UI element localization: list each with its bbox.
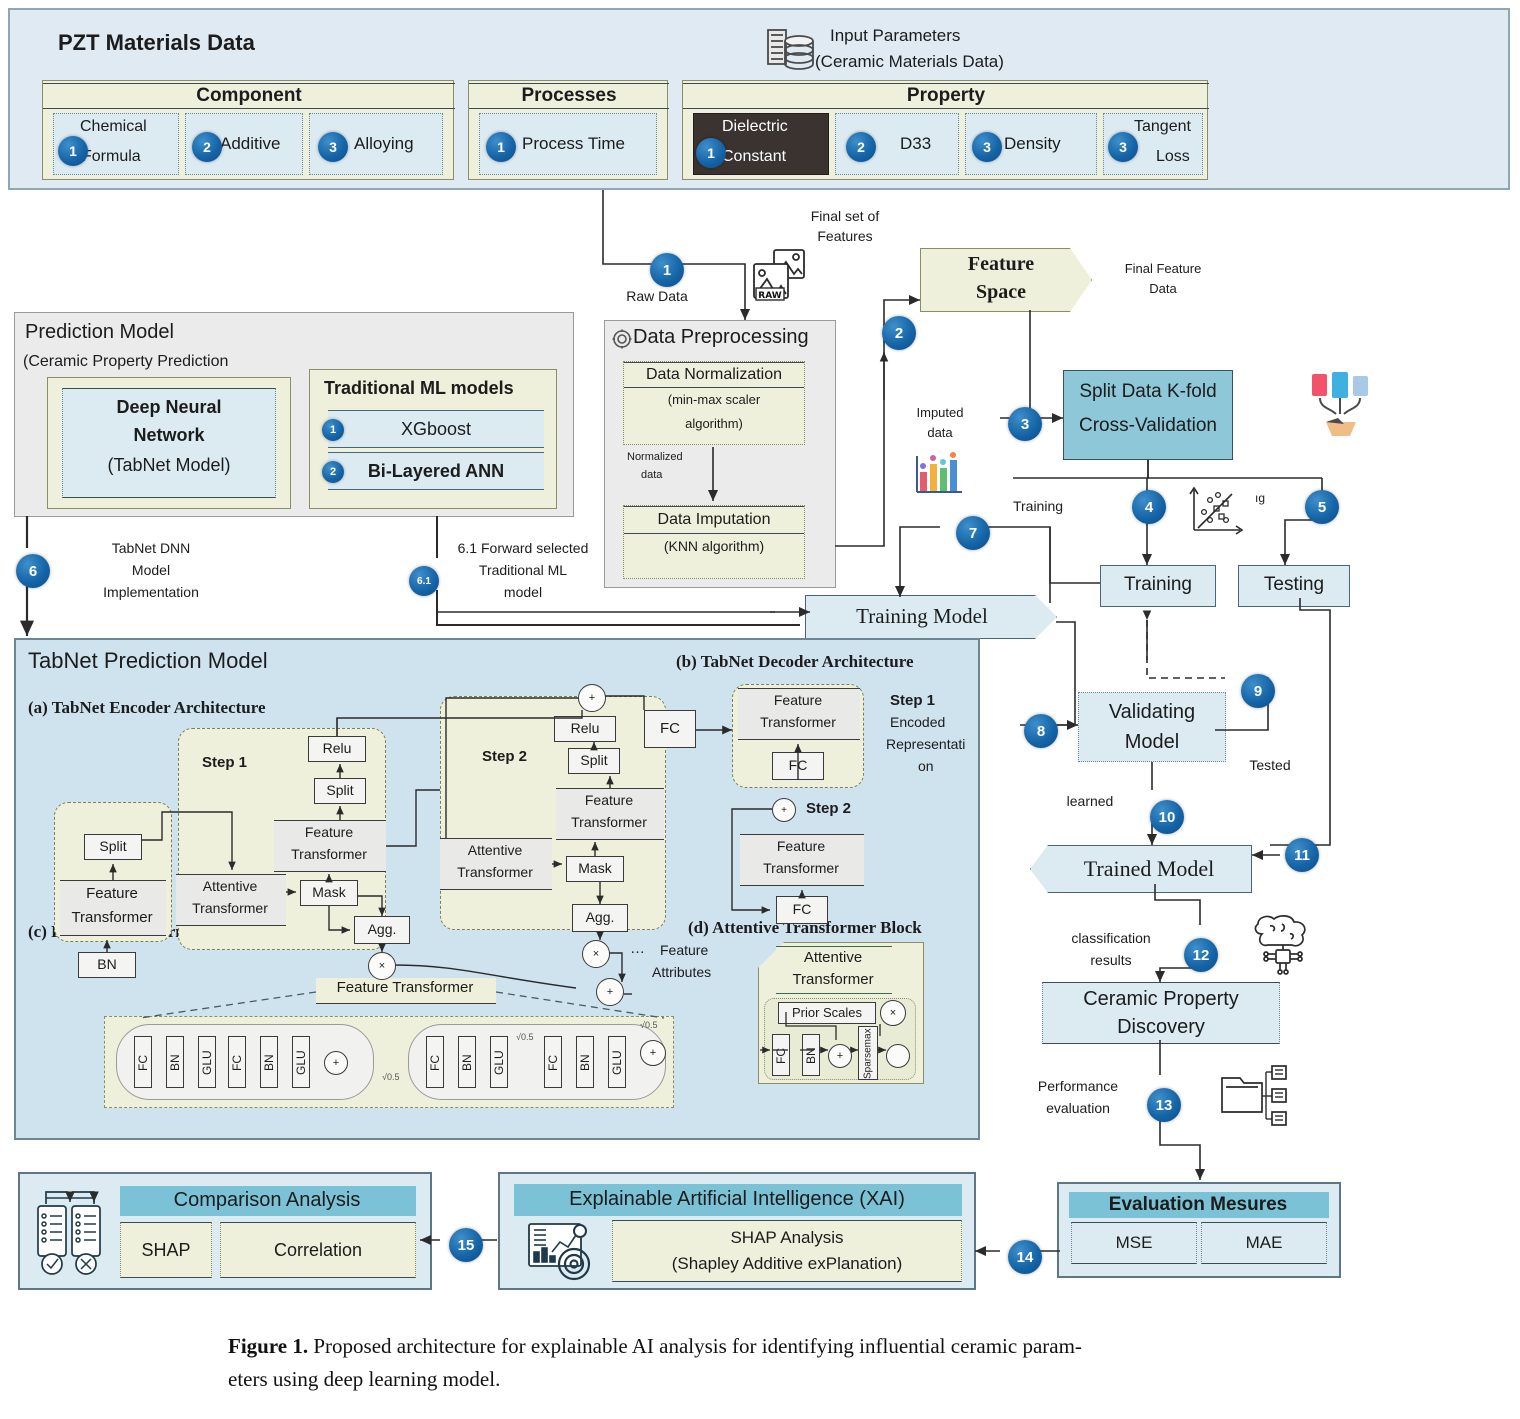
step2-plus-glyph: + [589,692,595,704]
step-badge-14: 14 [1008,1240,1042,1274]
validating-model-line1: Validating [1079,701,1225,724]
caption-bold: Figure 1. [228,1334,308,1358]
evaluation-mse-item[interactable]: MSE [1071,1222,1197,1264]
feature-space-box: Feature Space [920,248,1092,312]
final-feature-data-line2: Data [1108,282,1218,297]
step-badge-1: 1 [650,253,684,287]
pzt-panel-title: PZT Materials Data [58,30,255,56]
step-badge-6: 6 [16,554,50,588]
d33-label: D33 [900,134,931,154]
step2-plus-node: + [578,684,606,712]
chemical-formula-line1: Chemical [80,118,147,136]
traditional-ml-models-box: Traditional ML models XGboost 1 Bi-Layer… [309,369,557,509]
comparison-correlation-item[interactable]: Correlation [220,1222,416,1278]
split-data-line2: Cross-Validation [1064,415,1232,437]
shap-analysis-box: SHAP Analysis (Shapley Additive exPlanat… [612,1220,962,1282]
folder-network-icon [1218,1062,1290,1130]
forward-selected-line3: model [438,584,608,600]
caption-line2: eters using deep learning model. [228,1367,500,1391]
trained-model-box: Trained Model [1030,845,1252,893]
evaluation-mse-label: MSE [1072,1233,1196,1253]
analytics-dashboard-icon [526,1220,602,1284]
step-badge-13: 13 [1147,1088,1181,1122]
testing-box: Testing [1238,565,1350,607]
at-out-node [886,1044,910,1068]
step-badge-3: 3 [1008,407,1042,441]
evaluation-title: Evaluation Mesures [1069,1194,1327,1216]
xai-title-bar: Explainable Artificial Intelligence (XAI… [514,1184,962,1216]
data-preprocessing-panel: Data Preprocessing Data Normalization (m… [604,320,836,588]
additive-item[interactable]: Additive 2 [185,113,303,175]
imputed-data-line2: data [900,426,980,441]
dielectric-constant-item[interactable]: Dielectric Constant 1 [693,113,829,175]
bar-chart-icon [912,450,968,498]
svg-text:RAW: RAW [758,291,781,301]
additive-label: Additive [220,134,280,154]
step-badge-4: 4 [1132,490,1166,524]
final-feature-data-line1: Final Feature [1108,262,1218,277]
step-badge-8: 8 [1024,714,1058,748]
step-badge-15: 15 [449,1228,483,1262]
property-group: Property Dielectric Constant 1 D33 2 Den… [682,80,1208,180]
at-times-glyph: × [890,1007,896,1019]
badge-process-1: 1 [486,132,516,162]
process-time-item[interactable]: Process Time 1 [479,113,657,175]
caption-line1: Proposed architecture for explainable AI… [308,1334,1082,1358]
step-badge-2: 2 [882,316,916,350]
badge-property-3b: 3 [1108,132,1138,162]
evaluation-title-bar: Evaluation Mesures [1069,1192,1329,1218]
chemical-formula-item[interactable]: Chemical Formula 1 [53,113,179,175]
xgboost-label: XGboost [328,419,544,440]
learned-label: learned [1050,793,1130,809]
performance-evaluation-line2: evaluation [1020,1100,1136,1116]
step2-plus-node-2: + [596,978,624,1006]
pzt-materials-data-panel: PZT Materials Data Input Parameters (Cer… [8,8,1510,190]
component-group-title: Component [43,83,455,109]
training-model-box: Training Model [805,595,1057,639]
ft1-plus-glyph: + [333,1057,339,1069]
xai-title: Explainable Artificial Intelligence (XAI… [514,1188,960,1211]
step-badge-11: 11 [1285,838,1319,872]
prediction-model-title: Prediction Model [25,321,174,344]
forward-selected-line1: 6.1 Forward selected [438,540,608,556]
step1-multiply-glyph: × [379,960,385,972]
decoder-plus-node: + [772,798,796,822]
dielectric-constant-line2: Constant [722,148,786,166]
comparison-analysis-panel: Comparison Analysis SHAP Correlation [18,1172,432,1290]
traditional-ml-title: Traditional ML models [324,378,514,399]
input-parameters-subtitle: (Ceramic Materials Data) [815,52,1004,72]
raw-data-label: Raw Data [612,288,702,304]
tabnet-dnn-impl-line3: Implementation [76,584,226,600]
badge-component-2: 2 [192,132,222,162]
at-block-wires [756,940,936,1090]
final-set-of-features-line2: Features [790,228,900,244]
performance-evaluation-line1: Performance [1020,1078,1136,1094]
dnn-line1: Deep Neural [63,397,275,418]
deep-neural-network-box: Deep Neural Network (TabNet Model) [62,388,276,498]
step-badge-12: 12 [1184,938,1218,972]
at-plus-node: + [828,1044,852,1068]
component-group: Component Chemical Formula 1 Additive 2 … [42,80,454,180]
evaluation-mae-label: MAE [1202,1233,1326,1253]
step-badge-5: 5 [1305,490,1339,524]
step2-multiply-node: × [582,940,610,968]
dielectric-constant-line1: Dielectric [722,118,788,136]
feature-space-line1: Feature [921,253,1081,276]
process-time-label: Process Time [522,134,625,154]
ceramic-discovery-line2: Discovery [1043,1016,1279,1039]
step1-multiply-node: × [368,952,396,980]
scatter-plot-icon [1188,486,1250,540]
shap-analysis-line2: (Shapley Additive exPlanation) [613,1254,961,1274]
imputed-data-line1: Imputed [900,406,980,421]
ft2-plus-glyph: + [650,1047,656,1059]
badge-component-1: 1 [58,136,88,166]
classification-results-line2: results [1056,952,1166,968]
processes-group: Processes Process Time 1 [468,80,668,180]
step-badge-6-1: 6.1 [409,566,439,596]
dnn-line2: Network [63,425,275,446]
scatter-icon-label: ıg [1248,492,1272,506]
figure-caption: Figure 1. Proposed architecture for expl… [228,1330,1328,1395]
ceramic-property-discovery-box: Ceramic Property Discovery [1042,982,1280,1044]
evaluation-mae-item[interactable]: MAE [1201,1222,1327,1264]
tangent-loss-line1: Tangent [1134,118,1191,136]
badge-property-2: 2 [846,132,876,162]
feature-space-line2: Space [921,281,1081,304]
badge-property-1: 1 [696,138,726,168]
dnn-outer-box: Deep Neural Network (TabNet Model) [47,377,291,509]
comparison-shap-label: SHAP [121,1240,211,1261]
comparison-analysis-title-bar: Comparison Analysis [120,1186,416,1216]
d33-item[interactable]: D33 2 [835,113,959,175]
tangent-loss-item[interactable]: Tangent Loss 3 [1103,113,1203,175]
tested-label: Tested [1235,757,1305,773]
forward-selected-line2: Traditional ML [438,562,608,578]
step2-multiply-glyph: × [593,948,599,960]
compare-documents-icon [34,1188,106,1278]
split-data-line1: Split Data K-fold [1064,381,1232,403]
evaluation-measures-panel: Evaluation Mesures MSE MAE [1057,1182,1341,1278]
ceramic-discovery-line1: Ceramic Property [1043,988,1279,1011]
preprocessing-inner-arrow [605,321,837,589]
xai-panel: Explainable Artificial Intelligence (XAI… [498,1172,976,1290]
split-data-kfold-box: Split Data K-fold Cross-Validation [1063,370,1233,460]
step-badge-7: 7 [956,516,990,550]
classification-results-line1: classification [1056,930,1166,946]
input-parameters-title: Input Parameters [830,26,960,46]
step-badge-10: 10 [1150,800,1184,834]
tabnet-dnn-impl-line1: TabNet DNN [76,540,226,556]
training-model-label: Training Model [806,604,1038,629]
processes-group-title: Processes [469,83,669,109]
alloying-label: Alloying [354,134,414,154]
ft2-plus-node: + [640,1040,666,1066]
training-box-label: Training [1101,574,1215,596]
raw-image-icon: RAW [748,246,810,308]
final-set-of-features-line1: Final set of [790,208,900,224]
badge-component-3: 3 [318,132,348,162]
validating-model-line2: Model [1079,731,1225,754]
comparison-correlation-label: Correlation [221,1240,415,1261]
density-label: Density [1004,134,1061,154]
step2-plus2-glyph: + [607,986,613,998]
tabnet-prediction-model-panel: TabNet Prediction Model (a) TabNet Encod… [14,638,980,1140]
bilayered-ann-item[interactable]: Bi-Layered ANN 2 [328,452,544,490]
chemical-formula-line2: Formula [82,148,141,166]
database-icon [762,24,822,76]
ai-brain-chip-icon [1248,912,1318,978]
badge-property-3: 3 [972,132,1002,162]
alloying-item[interactable]: Alloying 3 [309,113,443,175]
badge-trad-2: 2 [322,461,344,483]
shap-analysis-line1: SHAP Analysis [613,1228,961,1248]
tabnet-dnn-impl-line2: Model [76,562,226,578]
bilayered-ann-label: Bi-Layered ANN [328,461,544,482]
density-item[interactable]: Density 3 [965,113,1097,175]
at-times-node: × [880,1000,906,1026]
testing-box-label: Testing [1239,574,1349,596]
at-plus-glyph: + [837,1050,843,1062]
validating-model-box: Validating Model [1078,692,1226,762]
training-box: Training [1100,565,1216,607]
badge-trad-1: 1 [322,419,344,441]
tangent-loss-line2: Loss [1156,148,1190,166]
trained-model-label: Trained Model [1045,856,1253,882]
prediction-model-subtitle: (Ceramic Property Prediction [23,353,228,371]
training-edge-label: Training [998,498,1078,514]
prediction-model-panel: Prediction Model (Ceramic Property Predi… [14,312,574,517]
comparison-analysis-title: Comparison Analysis [120,1189,414,1212]
ft1-plus-node: + [324,1051,348,1075]
xgboost-item[interactable]: XGboost 1 [328,410,544,448]
data-split-icon [1310,370,1372,440]
step-badge-9: 9 [1241,674,1275,708]
dnn-line3: (TabNet Model) [63,455,275,476]
property-group-title: Property [683,83,1209,109]
decoder-plus-glyph: + [781,805,787,816]
comparison-shap-item[interactable]: SHAP [120,1222,212,1278]
